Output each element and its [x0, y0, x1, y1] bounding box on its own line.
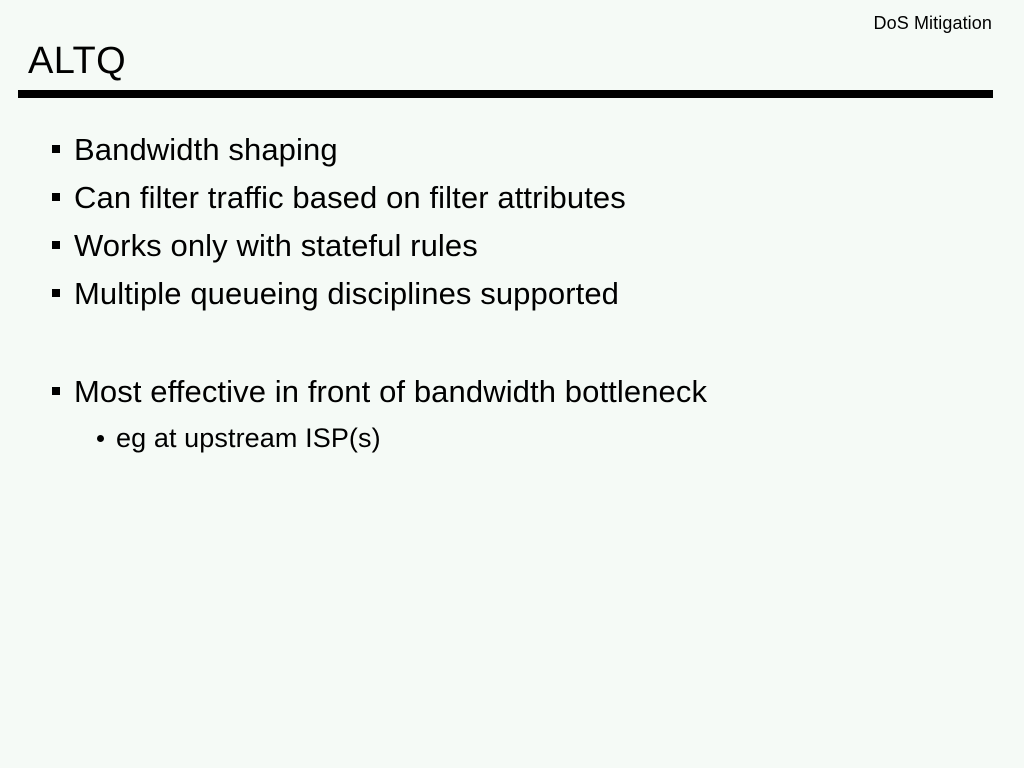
list-item: Works only with stateful rules [0, 228, 1024, 276]
list-item-label: Most effective in front of bandwidth bot… [74, 374, 707, 410]
list-spacer [0, 324, 1024, 374]
square-bullet-icon [52, 387, 60, 395]
list-item-label: Multiple queueing disciplines supported [74, 276, 619, 312]
slide: DoS Mitigation ALTQ Bandwidth shaping Ca… [0, 0, 1024, 768]
page-title: ALTQ [28, 38, 126, 84]
bullet-list: Bandwidth shaping Can filter traffic bas… [0, 132, 1024, 466]
list-item: Most effective in front of bandwidth bot… [0, 374, 1024, 422]
square-bullet-icon [52, 289, 60, 297]
list-item: Multiple queueing disciplines supported [0, 276, 1024, 324]
list-item-label: Bandwidth shaping [74, 132, 338, 168]
list-item-label: Works only with stateful rules [74, 228, 478, 264]
square-bullet-icon [52, 241, 60, 249]
round-bullet-icon [97, 435, 104, 442]
square-bullet-icon [52, 145, 60, 153]
square-bullet-icon [52, 193, 60, 201]
list-item: Bandwidth shaping [0, 132, 1024, 180]
sub-list-item: eg at upstream ISP(s) [0, 422, 1024, 466]
list-item: Can filter traffic based on filter attri… [0, 180, 1024, 228]
title-divider [18, 90, 993, 98]
sub-list-item-label: eg at upstream ISP(s) [116, 422, 381, 454]
slide-header-label: DoS Mitigation [392, 12, 992, 34]
list-item-label: Can filter traffic based on filter attri… [74, 180, 626, 216]
